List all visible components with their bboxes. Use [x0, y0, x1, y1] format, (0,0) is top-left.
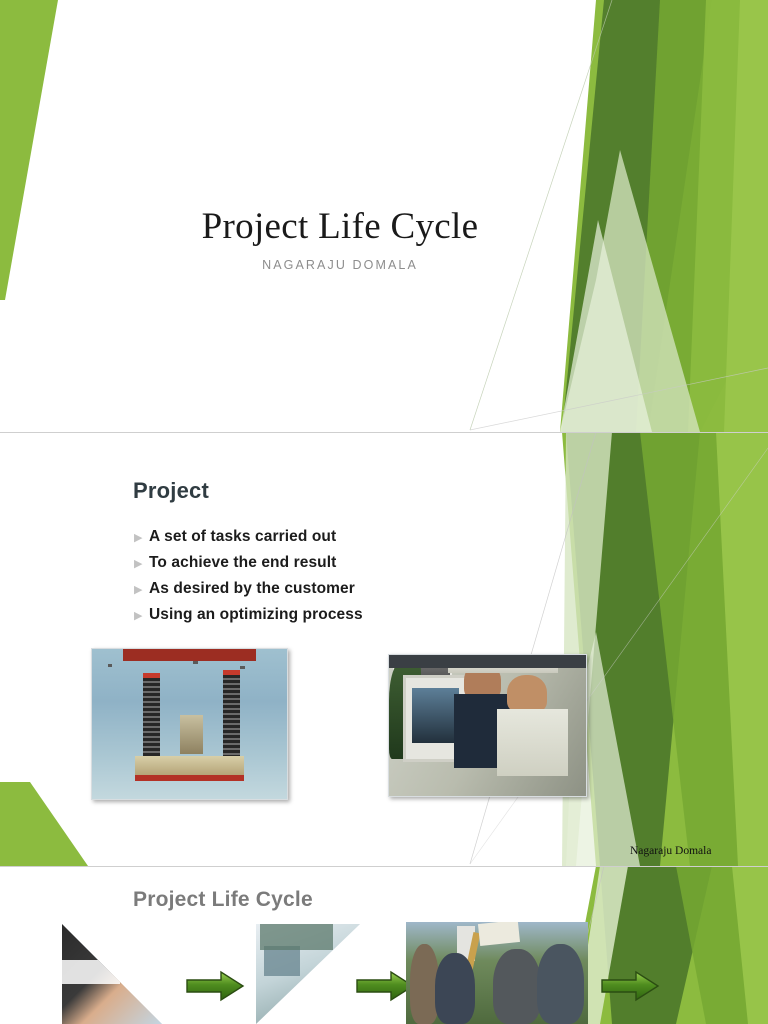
flow-image-field-team	[406, 922, 588, 1024]
image-offshore-drilling-rig	[91, 648, 288, 800]
slide-separator-2	[0, 866, 768, 867]
slide-separator-1	[0, 432, 768, 433]
slide-footer-author: Nagaraju Domala	[630, 845, 711, 857]
list-item: ▶ As desired by the customer	[134, 578, 564, 601]
flow-image-laboratory	[256, 924, 360, 1024]
slide-project-life-cycle[interactable]: Project Life Cycle	[0, 866, 768, 1024]
list-item: ▶ Using an optimizing process	[134, 604, 564, 627]
process-flow-diagram	[0, 924, 768, 1024]
slide-1-subtitle: NAGARAJU DOMALA	[0, 258, 680, 272]
list-item-label: To achieve the end result	[149, 552, 336, 574]
flow-arrow-icon-3	[600, 970, 660, 1002]
list-item-label: Using an optimizing process	[149, 604, 363, 626]
bullet-list: ▶ A set of tasks carried out ▶ To achiev…	[134, 526, 564, 630]
slide-2-heading: Project	[133, 478, 209, 504]
list-item: ▶ A set of tasks carried out	[134, 526, 564, 549]
presentation-scroll-view: Project Life Cycle NAGARAJU DOMALA Proje…	[0, 0, 768, 1024]
list-item-label: As desired by the customer	[149, 578, 355, 600]
flow-arrow-icon-1	[185, 970, 245, 1002]
slide-3-heading: Project Life Cycle	[133, 888, 313, 912]
list-item: ▶ To achieve the end result	[134, 552, 564, 575]
flow-image-handshake	[62, 924, 162, 1024]
triangle-bullet-icon: ▶	[134, 526, 149, 549]
slide-1-title: Project Life Cycle	[0, 205, 680, 248]
image-office-workstation	[388, 654, 587, 797]
slide-title[interactable]: Project Life Cycle NAGARAJU DOMALA	[0, 0, 768, 432]
list-item-label: A set of tasks carried out	[149, 526, 336, 548]
triangle-bullet-icon: ▶	[134, 604, 149, 627]
triangle-bullet-icon: ▶	[134, 552, 149, 575]
triangle-bullet-icon: ▶	[134, 578, 149, 601]
